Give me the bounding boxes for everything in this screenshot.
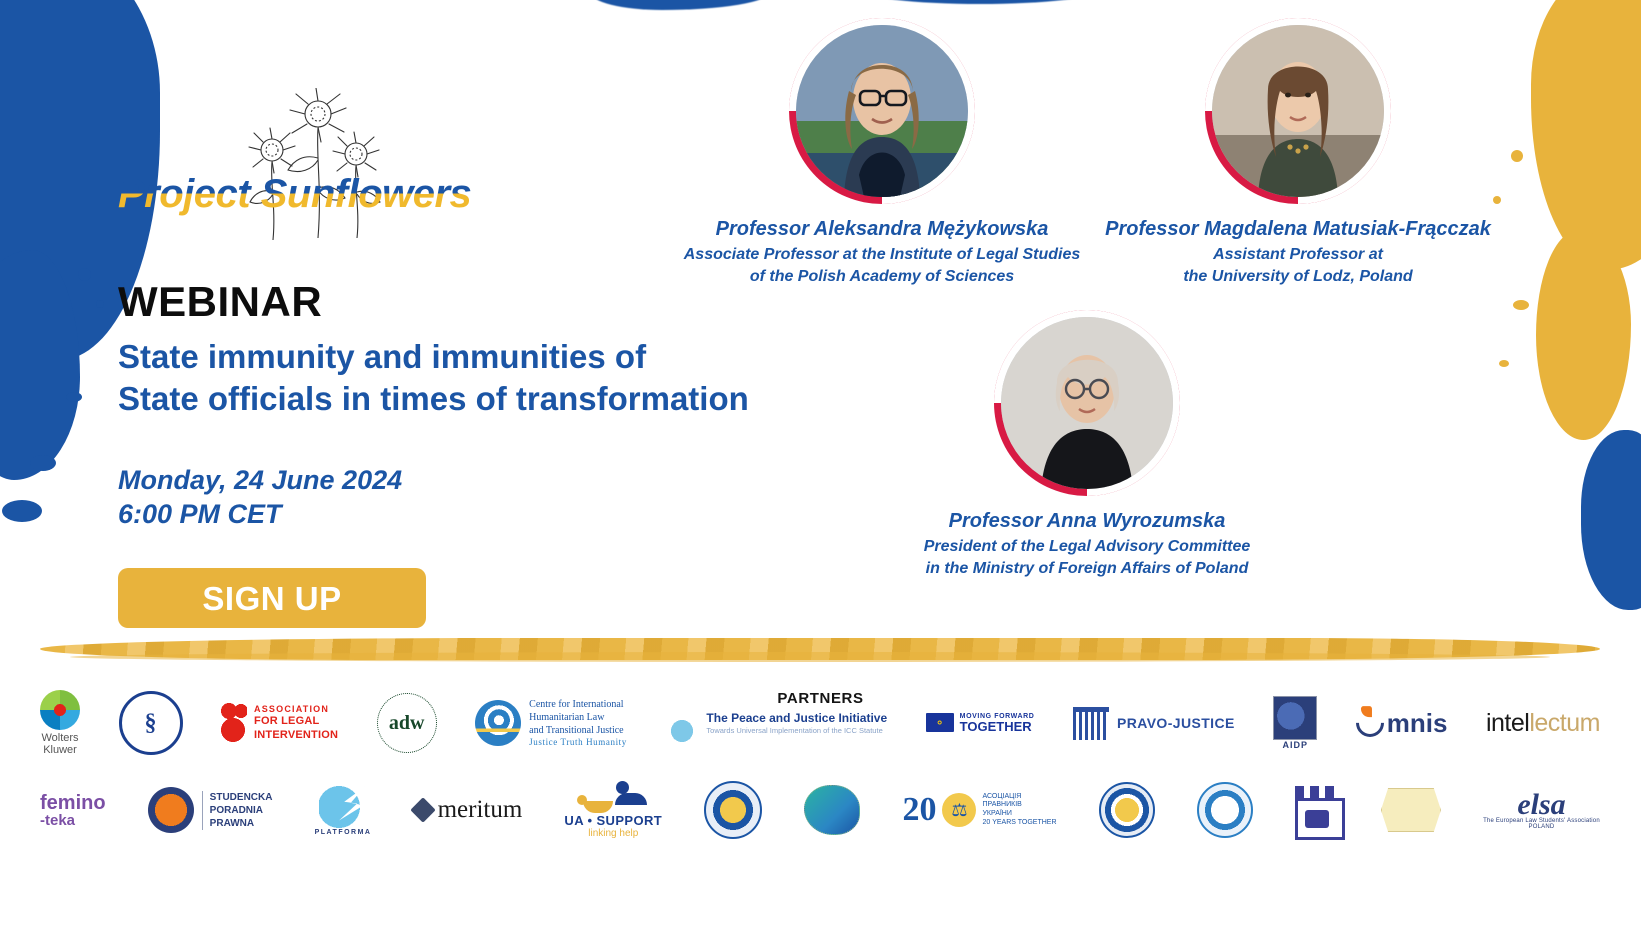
speaker-role-line-1: Assistant Professor at	[1092, 244, 1504, 266]
intellectum-label-1: intel	[1486, 709, 1529, 737]
asociacia-label-3: УКРАЇНИ	[982, 810, 1011, 817]
speaker-photo-1	[796, 25, 968, 197]
spp-label-1: STUDENCKA	[210, 791, 273, 804]
scales-icon: ⚖	[942, 793, 976, 827]
partner-logo-pravo-justice[interactable]: PRAVO-JUSTICE	[1073, 692, 1235, 754]
elsa-country: POLAND	[1529, 824, 1555, 830]
legal-intervention-icon	[221, 702, 247, 744]
cihl-label-3: and Transitional Justice	[529, 724, 627, 737]
speaker-name: Professor Magdalena Matusiak-Frącczak	[1092, 218, 1504, 241]
webinar-poster: Project Sunflowers WEBINAR State immunit…	[0, 0, 1641, 925]
afl-label-2: FOR LEGAL	[254, 715, 338, 729]
city-crest-icon	[704, 781, 762, 839]
partner-logo-hex-institute[interactable]	[1381, 779, 1441, 841]
splash-dot-decoration	[2, 500, 42, 522]
notary-crest-icon: §	[119, 691, 183, 755]
partner-logo-association-for-legal-intervention[interactable]: ASSOCIATION FOR LEGAL INTERVENTION	[221, 692, 338, 754]
platforma-label: PLATFORMA	[315, 829, 372, 836]
platforma-origami-icon	[319, 785, 367, 829]
pravo-justice-icon	[1073, 707, 1109, 740]
splash-dot-decoration	[96, 300, 104, 308]
dove-globe-icon	[665, 704, 699, 742]
femino-label-2: -teka	[40, 813, 106, 828]
speaker-name: Professor Aleksandra Mężykowska	[662, 218, 1102, 241]
speaker-role-line-1: Associate Professor at the Institute of …	[662, 244, 1102, 266]
splash-dot-decoration	[66, 392, 82, 402]
omnis-icon	[1350, 703, 1390, 743]
left-blue-splash-secondary-decoration	[0, 250, 80, 480]
wolters-kluwer-label-1: Wolters	[41, 732, 78, 744]
lazarski-seal-icon	[148, 787, 194, 833]
partner-logo-intellectum[interactable]: intellectum	[1486, 692, 1600, 754]
speaker-role-line-1: President of the Legal Advisory Committe…	[872, 536, 1302, 558]
eu-flag-icon: ⚬	[926, 713, 954, 732]
cihl-globe-icon	[475, 700, 521, 746]
aidp-icon	[1273, 696, 1317, 740]
brand-name: Project Sunflowers	[118, 172, 471, 217]
ua-support-sub: linking help	[588, 828, 638, 839]
partner-logo-centre-for-international-humanitarian-law[interactable]: Centre for International Humanitarian La…	[475, 692, 627, 754]
cihl-label-1: Centre for International	[529, 698, 627, 711]
gold-brush-divider-secondary	[70, 652, 1550, 662]
event-date: Monday, 24 June 2024	[118, 464, 818, 498]
intellectum-label-2: lectum	[1529, 709, 1600, 737]
partner-logo-ua-support[interactable]: UA • SUPPORT linking help	[564, 779, 662, 841]
asociacia-label-2: ПРАВНИКІВ	[982, 801, 1021, 808]
event-time: 6:00 PM CET	[118, 498, 818, 532]
speaker-card-1: Professor Aleksandra Mężykowska Associat…	[662, 18, 1102, 287]
splash-dot-decoration	[30, 455, 56, 471]
meritum-diamond-icon	[410, 797, 435, 822]
partner-logo-femino-teka[interactable]: femino -teka	[40, 779, 106, 841]
speaker-photo-3	[1001, 317, 1173, 489]
splash-dot-decoration	[1499, 360, 1509, 367]
speaker-name: Professor Anna Wyrozumska	[872, 510, 1302, 533]
pji-sub: Towards Universal Implementation of the …	[706, 726, 887, 735]
partners-logo-row-1: Wolters Kluwer § ASSOCIATION FOR LEGAL I…	[40, 688, 1600, 758]
tower-book-icon	[1295, 786, 1339, 834]
asociacia-sub: 20 YEARS TOGETHER	[982, 819, 1056, 826]
aidp-label: AIDP	[1282, 740, 1308, 750]
avatar	[789, 18, 975, 204]
speaker-card-3: Professor Anna Wyrozumska President of t…	[872, 310, 1302, 579]
splash-dot-decoration	[1511, 150, 1523, 162]
adwokatura-icon: adw	[377, 693, 437, 753]
page-title: State immunity and immunities of State o…	[118, 336, 818, 420]
partner-logo-city-crest[interactable]	[704, 779, 762, 841]
partner-logo-meritum[interactable]: meritum	[414, 779, 523, 841]
mft-label: TOGETHER	[960, 720, 1035, 734]
meritum-label: meritum	[438, 796, 523, 824]
wolters-kluwer-icon	[40, 690, 80, 730]
wolters-kluwer-label-2: Kluwer	[43, 744, 77, 756]
spp-label-3: PRAWNA	[210, 817, 273, 830]
speaker-role-line-2: of the Polish Academy of Sciences	[662, 266, 1102, 288]
law-university-seal-icon	[1099, 782, 1155, 838]
partner-logo-tower-university[interactable]	[1295, 779, 1339, 841]
partner-logo-elsa[interactable]: elsa The European Law Students' Associat…	[1483, 779, 1600, 841]
event-datetime: Monday, 24 June 2024 6:00 PM CET	[118, 464, 818, 532]
sign-up-button[interactable]: SIGN UP	[118, 568, 426, 628]
splash-dot-decoration	[78, 268, 91, 281]
partner-logo-law-university-seal[interactable]	[1099, 779, 1155, 841]
speaker-role: Assistant Professor at the University of…	[1092, 244, 1504, 287]
afl-label-3: INTERVENTION	[254, 729, 338, 743]
pji-label: The Peace and Justice Initiative	[706, 711, 887, 725]
speaker-role-line-2: in the Ministry of Foreign Affairs of Po…	[872, 558, 1302, 580]
partners-logo-row-2: femino -teka STUDENCKA PORADNIA PRAWNA P…	[40, 775, 1600, 845]
speaker-role: Associate Professor at the Institute of …	[662, 244, 1102, 287]
maritime-university-seal-icon	[1197, 782, 1253, 838]
elsa-label: elsa	[1517, 791, 1565, 818]
pravo-associacia-icon	[804, 785, 860, 835]
twenty-years-number: 20	[902, 791, 936, 829]
speaker-photo-2	[1212, 25, 1384, 197]
partner-logo-maritime-university-seal[interactable]	[1197, 779, 1253, 841]
partner-logo-pravo-associacia[interactable]	[804, 779, 860, 841]
speaker-card-2: Professor Magdalena Matusiak-Frącczak As…	[1092, 18, 1504, 287]
title-line-2: State officials in times of transformati…	[118, 378, 818, 420]
afl-label-1: ASSOCIATION	[254, 704, 338, 715]
ua-support-icon	[577, 781, 649, 813]
partner-logo-lazarski-studencka-poradnia-prawna[interactable]: STUDENCKA PORADNIA PRAWNA	[148, 779, 273, 841]
speaker-role: President of the Legal Advisory Committe…	[872, 536, 1302, 579]
cihl-label-2: Humanitarian Law	[529, 711, 627, 724]
hexagon-institute-icon	[1381, 788, 1441, 832]
partner-logo-platforma[interactable]: PLATFORMA	[315, 779, 372, 841]
partner-logo-aidp[interactable]: AIDP	[1273, 692, 1317, 754]
asociacia-label-1: АСОЦІАЦІЯ	[982, 793, 1021, 800]
title-line-1: State immunity and immunities of	[118, 336, 818, 378]
ua-support-label: UA • SUPPORT	[564, 813, 662, 828]
partner-logo-moving-forward-together[interactable]: ⚬ MOVING FORWARD TOGETHER	[926, 692, 1035, 754]
sunflowers-icon	[226, 88, 406, 248]
splash-dot-decoration	[1513, 300, 1529, 310]
right-gold-splash-decoration	[1531, 0, 1641, 270]
pravo-justice-label: PRAVO-JUSTICE	[1117, 715, 1235, 731]
right-gold-splash-secondary-decoration	[1536, 230, 1631, 440]
partner-logo-peace-and-justice-initiative[interactable]: The Peace and Justice Initiative Towards…	[665, 692, 887, 754]
omnis-label: mnis	[1387, 708, 1448, 739]
speaker-role-line-2: the University of Lodz, Poland	[1092, 266, 1504, 288]
avatar	[994, 310, 1180, 496]
cihl-tagline: Justice Truth Humanity	[529, 737, 627, 749]
partner-logo-adwokatura-polska[interactable]: adw	[377, 692, 437, 754]
spp-label-2: PORADNIA	[210, 804, 273, 817]
partner-logo-omnis[interactable]: mnis	[1356, 692, 1448, 754]
partner-logo-notary-crest[interactable]: §	[119, 692, 183, 754]
partner-logo-wolters-kluwer[interactable]: Wolters Kluwer	[40, 692, 80, 754]
femino-label-1: femino	[40, 793, 106, 813]
partner-logo-20-years-together[interactable]: 20 ⚖ АСОЦІАЦІЯ ПРАВНИКІВ УКРАЇНИ 20 YEAR…	[902, 779, 1056, 841]
right-blue-splash-decoration	[1581, 430, 1641, 610]
avatar	[1205, 18, 1391, 204]
